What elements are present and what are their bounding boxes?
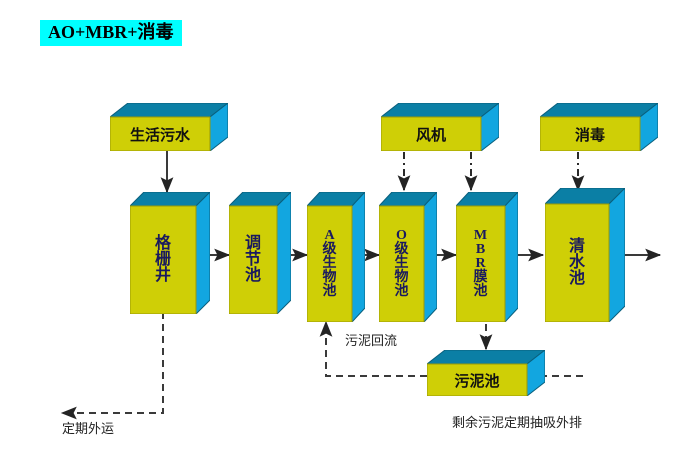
- diagram-title: AO+MBR+消毒: [40, 20, 182, 46]
- box-oxic-label: O 级 生 物 池: [379, 206, 424, 322]
- char: 池: [245, 268, 261, 284]
- box-influent[interactable]: 生活污水: [110, 103, 228, 151]
- box-equalization-label: 调 节 池: [229, 206, 277, 314]
- char: 格: [155, 236, 171, 252]
- line-grille-haul-away: [62, 312, 163, 413]
- box-clearwater[interactable]: 清 水 池: [545, 188, 625, 322]
- char: A: [324, 229, 334, 243]
- box-clearwater-label: 清 水 池: [545, 204, 609, 322]
- char: 节: [245, 252, 261, 268]
- label-excess-sludge: 剩余污泥定期抽吸外排: [452, 412, 582, 431]
- box-oxic[interactable]: O 级 生 物 池: [379, 192, 437, 322]
- char: 井: [155, 268, 171, 284]
- char: O: [396, 229, 407, 243]
- box-blower[interactable]: 风机: [381, 103, 499, 151]
- char: B: [476, 243, 485, 257]
- box-disinfect-label: 消毒: [575, 124, 605, 145]
- box-mbr[interactable]: M B R 膜 池: [456, 192, 518, 322]
- box-sludge-tank-label: 污泥池: [454, 370, 499, 391]
- char: 生: [395, 257, 409, 271]
- box-anoxic[interactable]: A 级 生 物 池: [307, 192, 365, 322]
- char: M: [474, 229, 487, 243]
- char: 物: [323, 271, 337, 285]
- box-disinfect[interactable]: 消毒: [540, 103, 658, 151]
- box-sludge-tank[interactable]: 污泥池: [427, 350, 545, 396]
- char: 级: [323, 243, 337, 257]
- box-influent-label: 生活污水: [130, 124, 190, 145]
- char: 调: [245, 236, 261, 252]
- box-grille[interactable]: 格 栅 井: [130, 192, 210, 314]
- box-blower-label: 风机: [416, 124, 446, 145]
- char: R: [475, 257, 485, 271]
- char: 膜: [474, 271, 488, 285]
- char: 生: [323, 257, 337, 271]
- char: 级: [395, 243, 409, 257]
- box-grille-label: 格 栅 井: [130, 206, 196, 314]
- char: 池: [395, 285, 409, 299]
- char: 水: [569, 255, 585, 271]
- box-equalization[interactable]: 调 节 池: [229, 192, 291, 314]
- char: 清: [569, 239, 585, 255]
- box-anoxic-label: A 级 生 物 池: [307, 206, 352, 322]
- label-sludge-return: 污泥回流: [345, 330, 397, 349]
- char: 池: [569, 271, 585, 287]
- label-periodic-haul: 定期外运: [62, 418, 114, 437]
- box-mbr-label: M B R 膜 池: [456, 206, 505, 322]
- char: 池: [323, 285, 337, 299]
- char: 栅: [155, 252, 171, 268]
- char: 物: [395, 271, 409, 285]
- flow-diagram-canvas: AO+MBR+消毒 生活污水 风机 消毒: [0, 0, 700, 450]
- char: 池: [474, 285, 488, 299]
